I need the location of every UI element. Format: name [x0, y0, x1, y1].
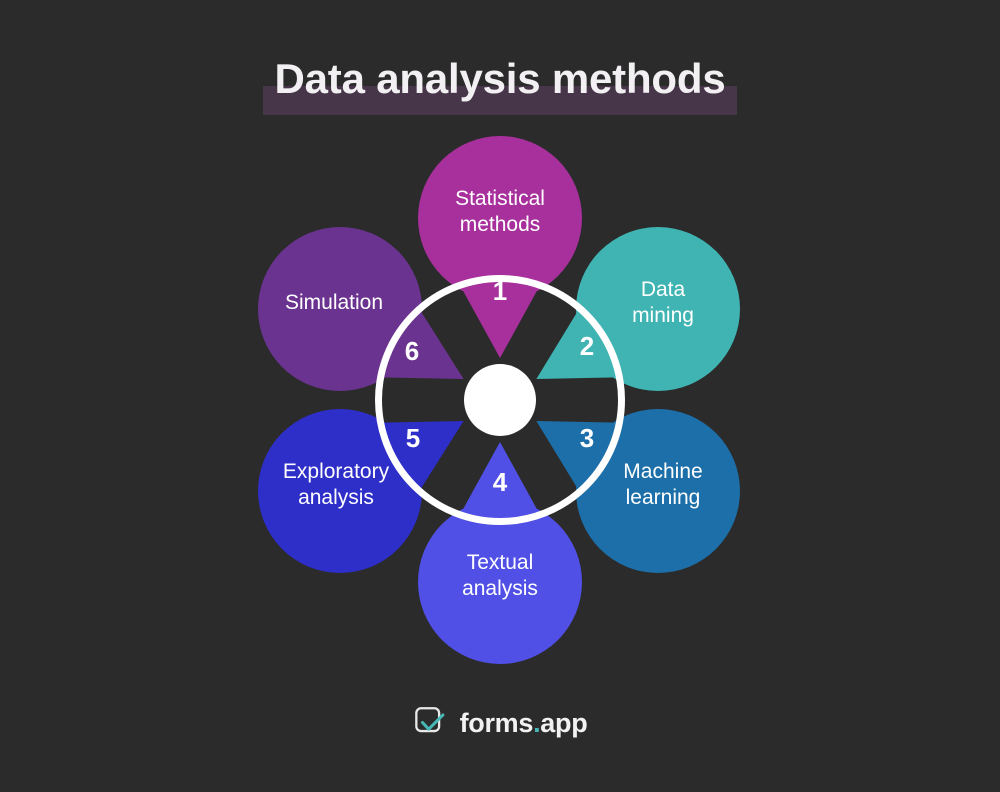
brand-wordmark: forms.app — [460, 708, 588, 738]
diagram-shapes — [0, 0, 1000, 792]
petal-cycle-diagram: Statistical methods 1 Data mining 2 Mach… — [0, 0, 1000, 792]
petal-bulb-6[interactable] — [258, 227, 422, 391]
forms-app-check-icon — [413, 704, 451, 742]
infographic-canvas: Data analysis methods Statistical method… — [0, 0, 1000, 792]
footer-brand-logo: forms.app — [0, 698, 1000, 748]
petal-bulb-2[interactable] — [576, 227, 740, 391]
petal-bulb-5[interactable] — [258, 409, 422, 573]
brand-suffix: app — [540, 708, 587, 738]
brand-name: forms — [460, 708, 534, 738]
petal-bulb-3[interactable] — [576, 409, 740, 573]
center-hub-circle — [464, 364, 536, 436]
